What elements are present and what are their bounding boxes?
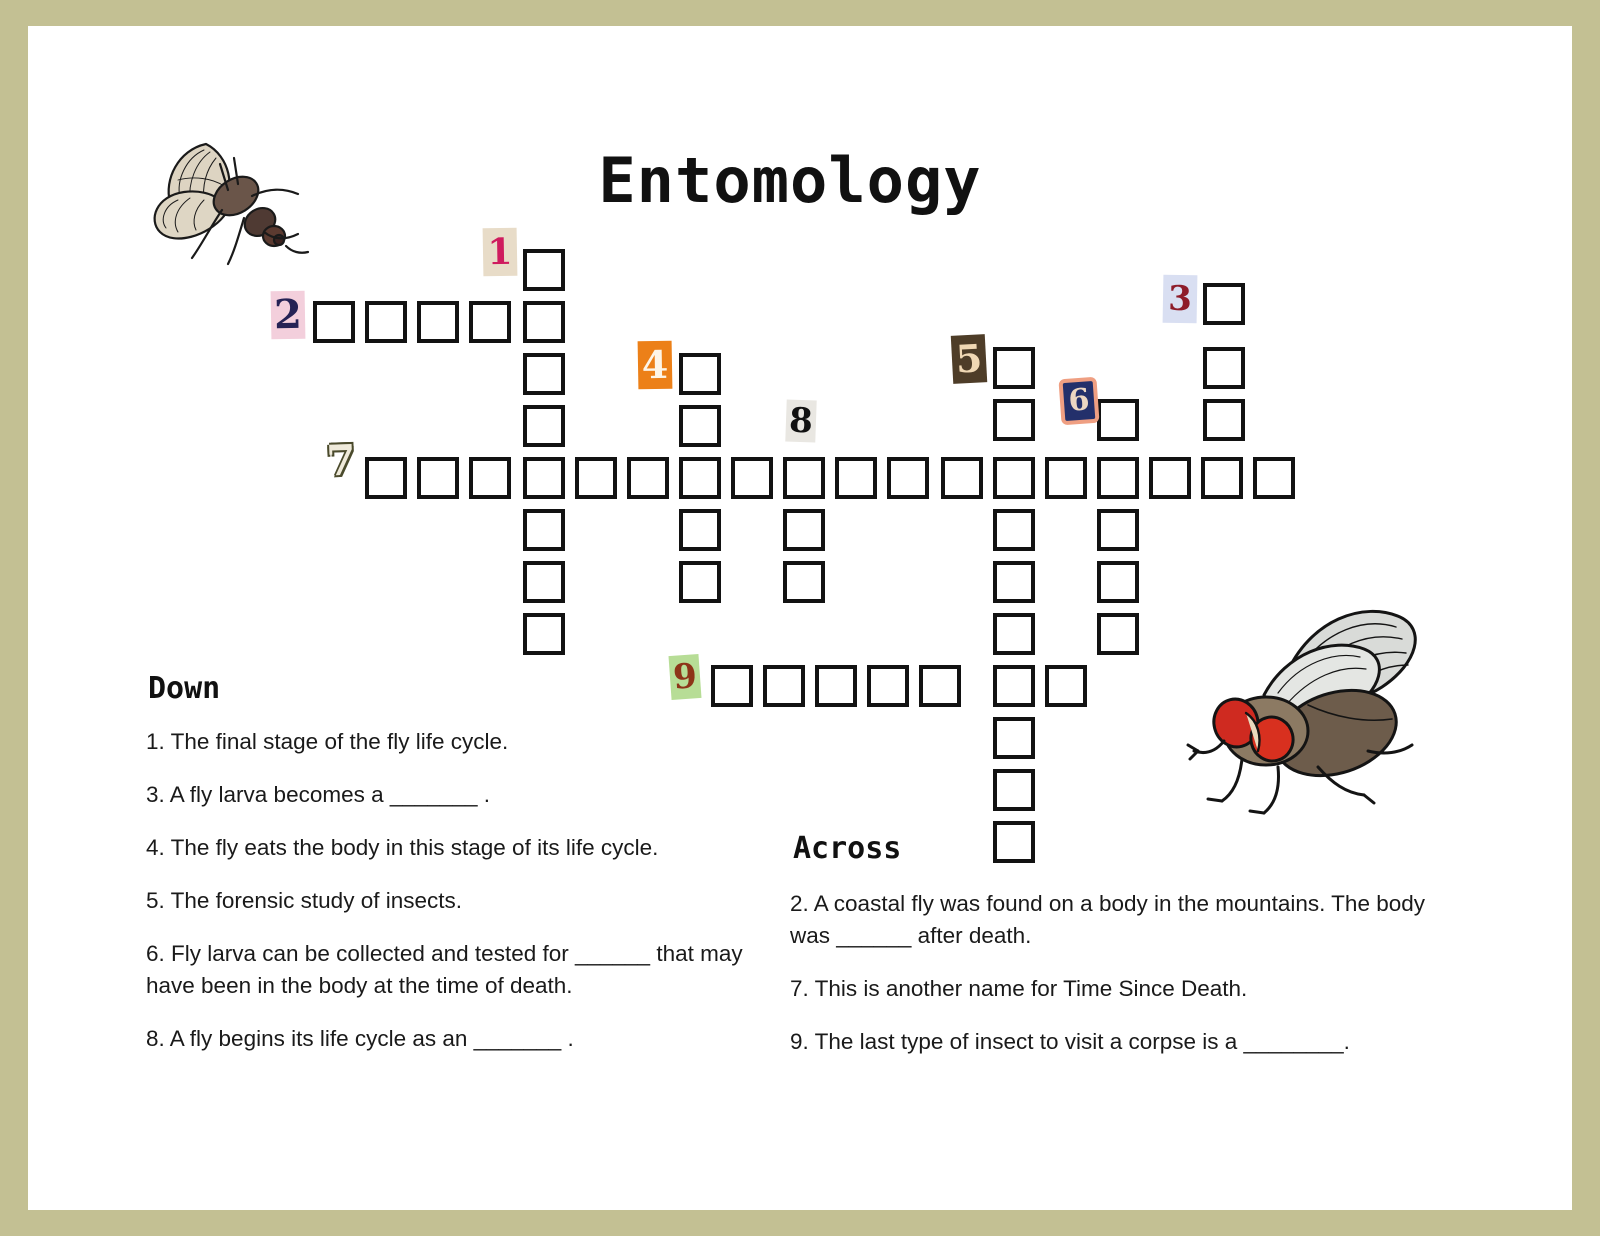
down-clue: 1. The final stage of the fly life cycle… xyxy=(146,726,756,758)
grid-cell[interactable] xyxy=(523,405,565,447)
grid-cell[interactable] xyxy=(919,665,961,707)
grid-cell[interactable] xyxy=(993,717,1035,759)
across-clue-list: 2. A coastal fly was found on a body in … xyxy=(790,888,1450,1079)
grid-cell[interactable] xyxy=(1097,509,1139,551)
grid-cell[interactable] xyxy=(993,613,1035,655)
grid-cell[interactable] xyxy=(1253,457,1295,499)
grid-cell[interactable] xyxy=(941,457,983,499)
grid-cell[interactable] xyxy=(1045,457,1087,499)
grid-cell[interactable] xyxy=(679,353,721,395)
clue-number-2: 2 xyxy=(271,291,306,340)
grid-cell[interactable] xyxy=(1097,613,1139,655)
grid-cell[interactable] xyxy=(523,509,565,551)
grid-cell[interactable] xyxy=(993,347,1035,389)
down-clue: 8. A fly begins its life cycle as an ___… xyxy=(146,1023,756,1055)
grid-cell[interactable] xyxy=(417,301,459,343)
clue-number-8: 8 xyxy=(785,399,816,442)
clue-number-7: 7 xyxy=(323,436,359,485)
grid-cell[interactable] xyxy=(523,301,565,343)
grid-cell[interactable] xyxy=(679,509,721,551)
grid-cell[interactable] xyxy=(763,665,805,707)
grid-cell[interactable] xyxy=(783,561,825,603)
clue-number-4: 4 xyxy=(638,341,673,390)
across-clue: 9. The last type of insect to visit a co… xyxy=(790,1026,1450,1058)
grid-cell[interactable] xyxy=(993,509,1035,551)
grid-cell[interactable] xyxy=(867,665,909,707)
grid-cell[interactable] xyxy=(1203,347,1245,389)
down-clue: 6. Fly larva can be collected and tested… xyxy=(146,938,756,1002)
grid-cell[interactable] xyxy=(469,301,511,343)
grid-cell[interactable] xyxy=(365,457,407,499)
grid-cell[interactable] xyxy=(993,399,1035,441)
grid-cell[interactable] xyxy=(679,561,721,603)
grid-cell[interactable] xyxy=(783,509,825,551)
grid-cell[interactable] xyxy=(575,457,617,499)
grid-cell[interactable] xyxy=(679,457,721,499)
grid-cell[interactable] xyxy=(523,457,565,499)
down-section-heading: Down xyxy=(148,671,220,706)
grid-cell[interactable] xyxy=(469,457,511,499)
grid-cell[interactable] xyxy=(523,353,565,395)
down-clue: 5. The forensic study of insects. xyxy=(146,885,756,917)
grid-cell[interactable] xyxy=(523,249,565,291)
grid-cell[interactable] xyxy=(731,457,773,499)
grid-cell[interactable] xyxy=(783,457,825,499)
grid-cell[interactable] xyxy=(887,457,929,499)
grid-cell[interactable] xyxy=(993,457,1035,499)
grid-cell[interactable] xyxy=(815,665,857,707)
grid-cell[interactable] xyxy=(1149,457,1191,499)
grid-cell[interactable] xyxy=(679,405,721,447)
grid-cell[interactable] xyxy=(417,457,459,499)
down-clue-list: 1. The final stage of the fly life cycle… xyxy=(146,726,756,1076)
grid-cell[interactable] xyxy=(1201,457,1243,499)
grid-cell[interactable] xyxy=(1203,283,1245,325)
grid-cell[interactable] xyxy=(523,561,565,603)
grid-cell[interactable] xyxy=(1045,665,1087,707)
clue-number-9: 9 xyxy=(669,654,702,700)
clue-number-1: 1 xyxy=(483,228,518,277)
grid-cell[interactable] xyxy=(313,301,355,343)
down-clue: 3. A fly larva becomes a _______ . xyxy=(146,779,756,811)
across-section-heading: Across xyxy=(793,831,901,866)
grid-cell[interactable] xyxy=(711,665,753,707)
grid-cell[interactable] xyxy=(1097,399,1139,441)
grid-cell[interactable] xyxy=(1097,457,1139,499)
grid-cell[interactable] xyxy=(1097,561,1139,603)
grid-cell[interactable] xyxy=(993,821,1035,863)
clue-number-6: 6 xyxy=(1058,377,1099,426)
clue-number-5: 5 xyxy=(951,334,987,384)
grid-cell[interactable] xyxy=(523,613,565,655)
worksheet-page: Entomology xyxy=(28,26,1572,1210)
across-clue: 7. This is another name for Time Since D… xyxy=(790,973,1450,1005)
across-clue: 2. A coastal fly was found on a body in … xyxy=(790,888,1450,952)
grid-cell[interactable] xyxy=(993,665,1035,707)
grid-cell[interactable] xyxy=(993,561,1035,603)
grid-cell[interactable] xyxy=(627,457,669,499)
grid-cell[interactable] xyxy=(365,301,407,343)
clue-number-3: 3 xyxy=(1163,275,1198,324)
grid-cell[interactable] xyxy=(993,769,1035,811)
grid-cell[interactable] xyxy=(835,457,877,499)
grid-cell[interactable] xyxy=(1203,399,1245,441)
down-clue: 4. The fly eats the body in this stage o… xyxy=(146,832,756,864)
